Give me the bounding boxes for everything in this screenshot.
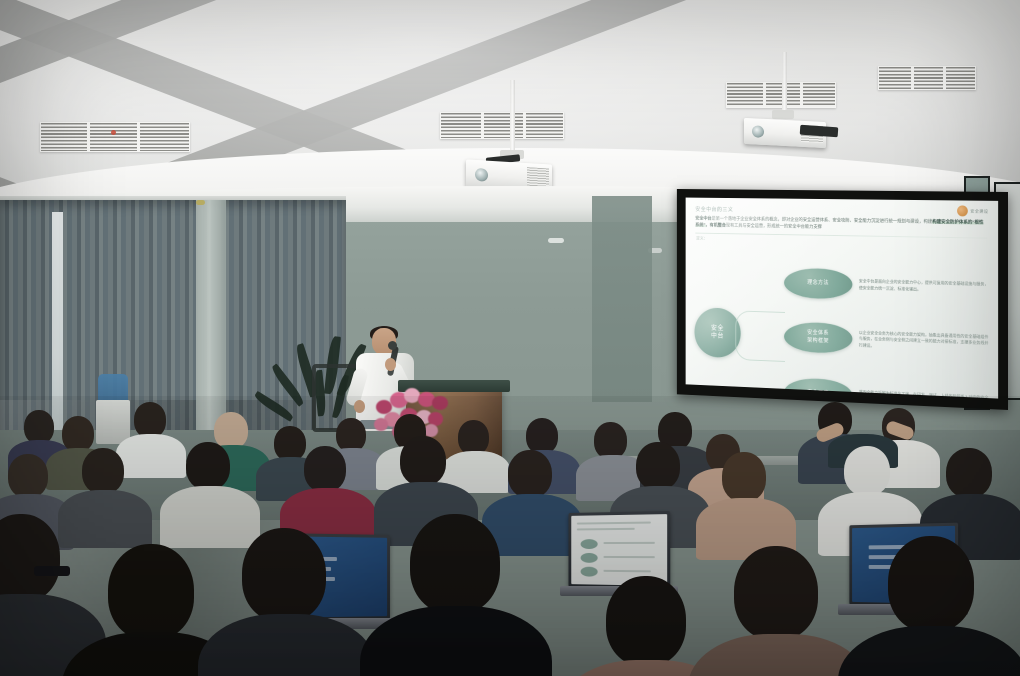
projector-lens-right xyxy=(752,125,764,138)
projector-vent-left xyxy=(527,167,549,187)
conference-hall-photo: 安全建设 安全中台的三义 安全中台是第一个落地于企业安全体系的概念，即对企业的安… xyxy=(0,0,1020,676)
hvac-vent-far-right xyxy=(878,66,976,90)
diagram-hub: 安全 中台 xyxy=(694,307,740,358)
diagram-connector xyxy=(735,310,785,362)
hvac-vent-center xyxy=(440,112,564,139)
diagram-item: 安全体系 架构框架 以企业安全业务为核心的安全能力架构，抽象出具备通用性的安全基… xyxy=(784,322,990,360)
slide-lead-p1: 安全中台 xyxy=(695,216,711,221)
audience xyxy=(0,396,1020,676)
projector-pole-left xyxy=(510,80,515,154)
presenter-hand-right xyxy=(385,358,396,371)
diagram-item-label-line2: 架构框架 xyxy=(807,337,829,345)
slide-lead-paragraph: 安全中台是第一个落地于企业安全体系的概念，即对企业的安全运营体系、安全攻防、安全… xyxy=(695,215,987,234)
projection-screen-surface: 安全建设 安全中台的三义 安全中台是第一个落地于企业安全体系的概念，即对企业的安… xyxy=(686,198,998,399)
slide-lead-p3: ，有机整合 xyxy=(705,223,725,228)
microphone-head-icon xyxy=(388,341,397,350)
eyeglasses-icon xyxy=(34,566,70,576)
diagram-item: 理念方法 安全中台是面向企业的安全能力中心，提供可复用的安全基础设施与服务，使安… xyxy=(784,268,990,304)
hvac-vent-left xyxy=(40,122,190,152)
laptop-display xyxy=(571,514,667,586)
diagram-item-description: 安全中台是面向企业的安全能力中心，提供可复用的安全基础设施与服务，使安全能力统一… xyxy=(859,278,990,294)
projector-pole-right xyxy=(782,52,787,114)
diagram-item-label-line1: 理念方法 xyxy=(807,280,829,287)
projector-mount-right xyxy=(772,110,794,119)
projector-lens-left xyxy=(475,168,488,182)
projection-screen[interactable]: 安全建设 安全中台的三义 安全中台是第一个落地于企业安全体系的概念，即对企业的安… xyxy=(677,189,1008,410)
vent-indicator-light xyxy=(111,130,116,135)
slide-lead-p4: 现有工具与安全运营，形成统一的安全中台能力支撑 xyxy=(726,223,822,229)
diagram-item-label: 理念方法 xyxy=(784,268,852,300)
slide-diagram: 安全 中台 理念方法 安全中台是面向企业的安全能力中心，提供可复用的安全基础设施… xyxy=(691,260,990,388)
slide-content: 安全建设 安全中台的三义 安全中台是第一个落地于企业安全体系的概念，即对企业的安… xyxy=(686,198,998,399)
diagram-item-description: 以企业安全业务为核心的安全能力架构，抽象出具备通用性的安全基础组件与服务，在业务… xyxy=(859,330,990,353)
diagram-hub-line2: 中台 xyxy=(711,332,724,340)
diagram-item-label: 安全体系 架构框架 xyxy=(784,322,852,354)
smoke-detector xyxy=(196,200,205,205)
downlight xyxy=(548,238,564,243)
hvac-vent-right xyxy=(726,82,836,108)
wall-section-left-of-screen xyxy=(592,196,652,402)
